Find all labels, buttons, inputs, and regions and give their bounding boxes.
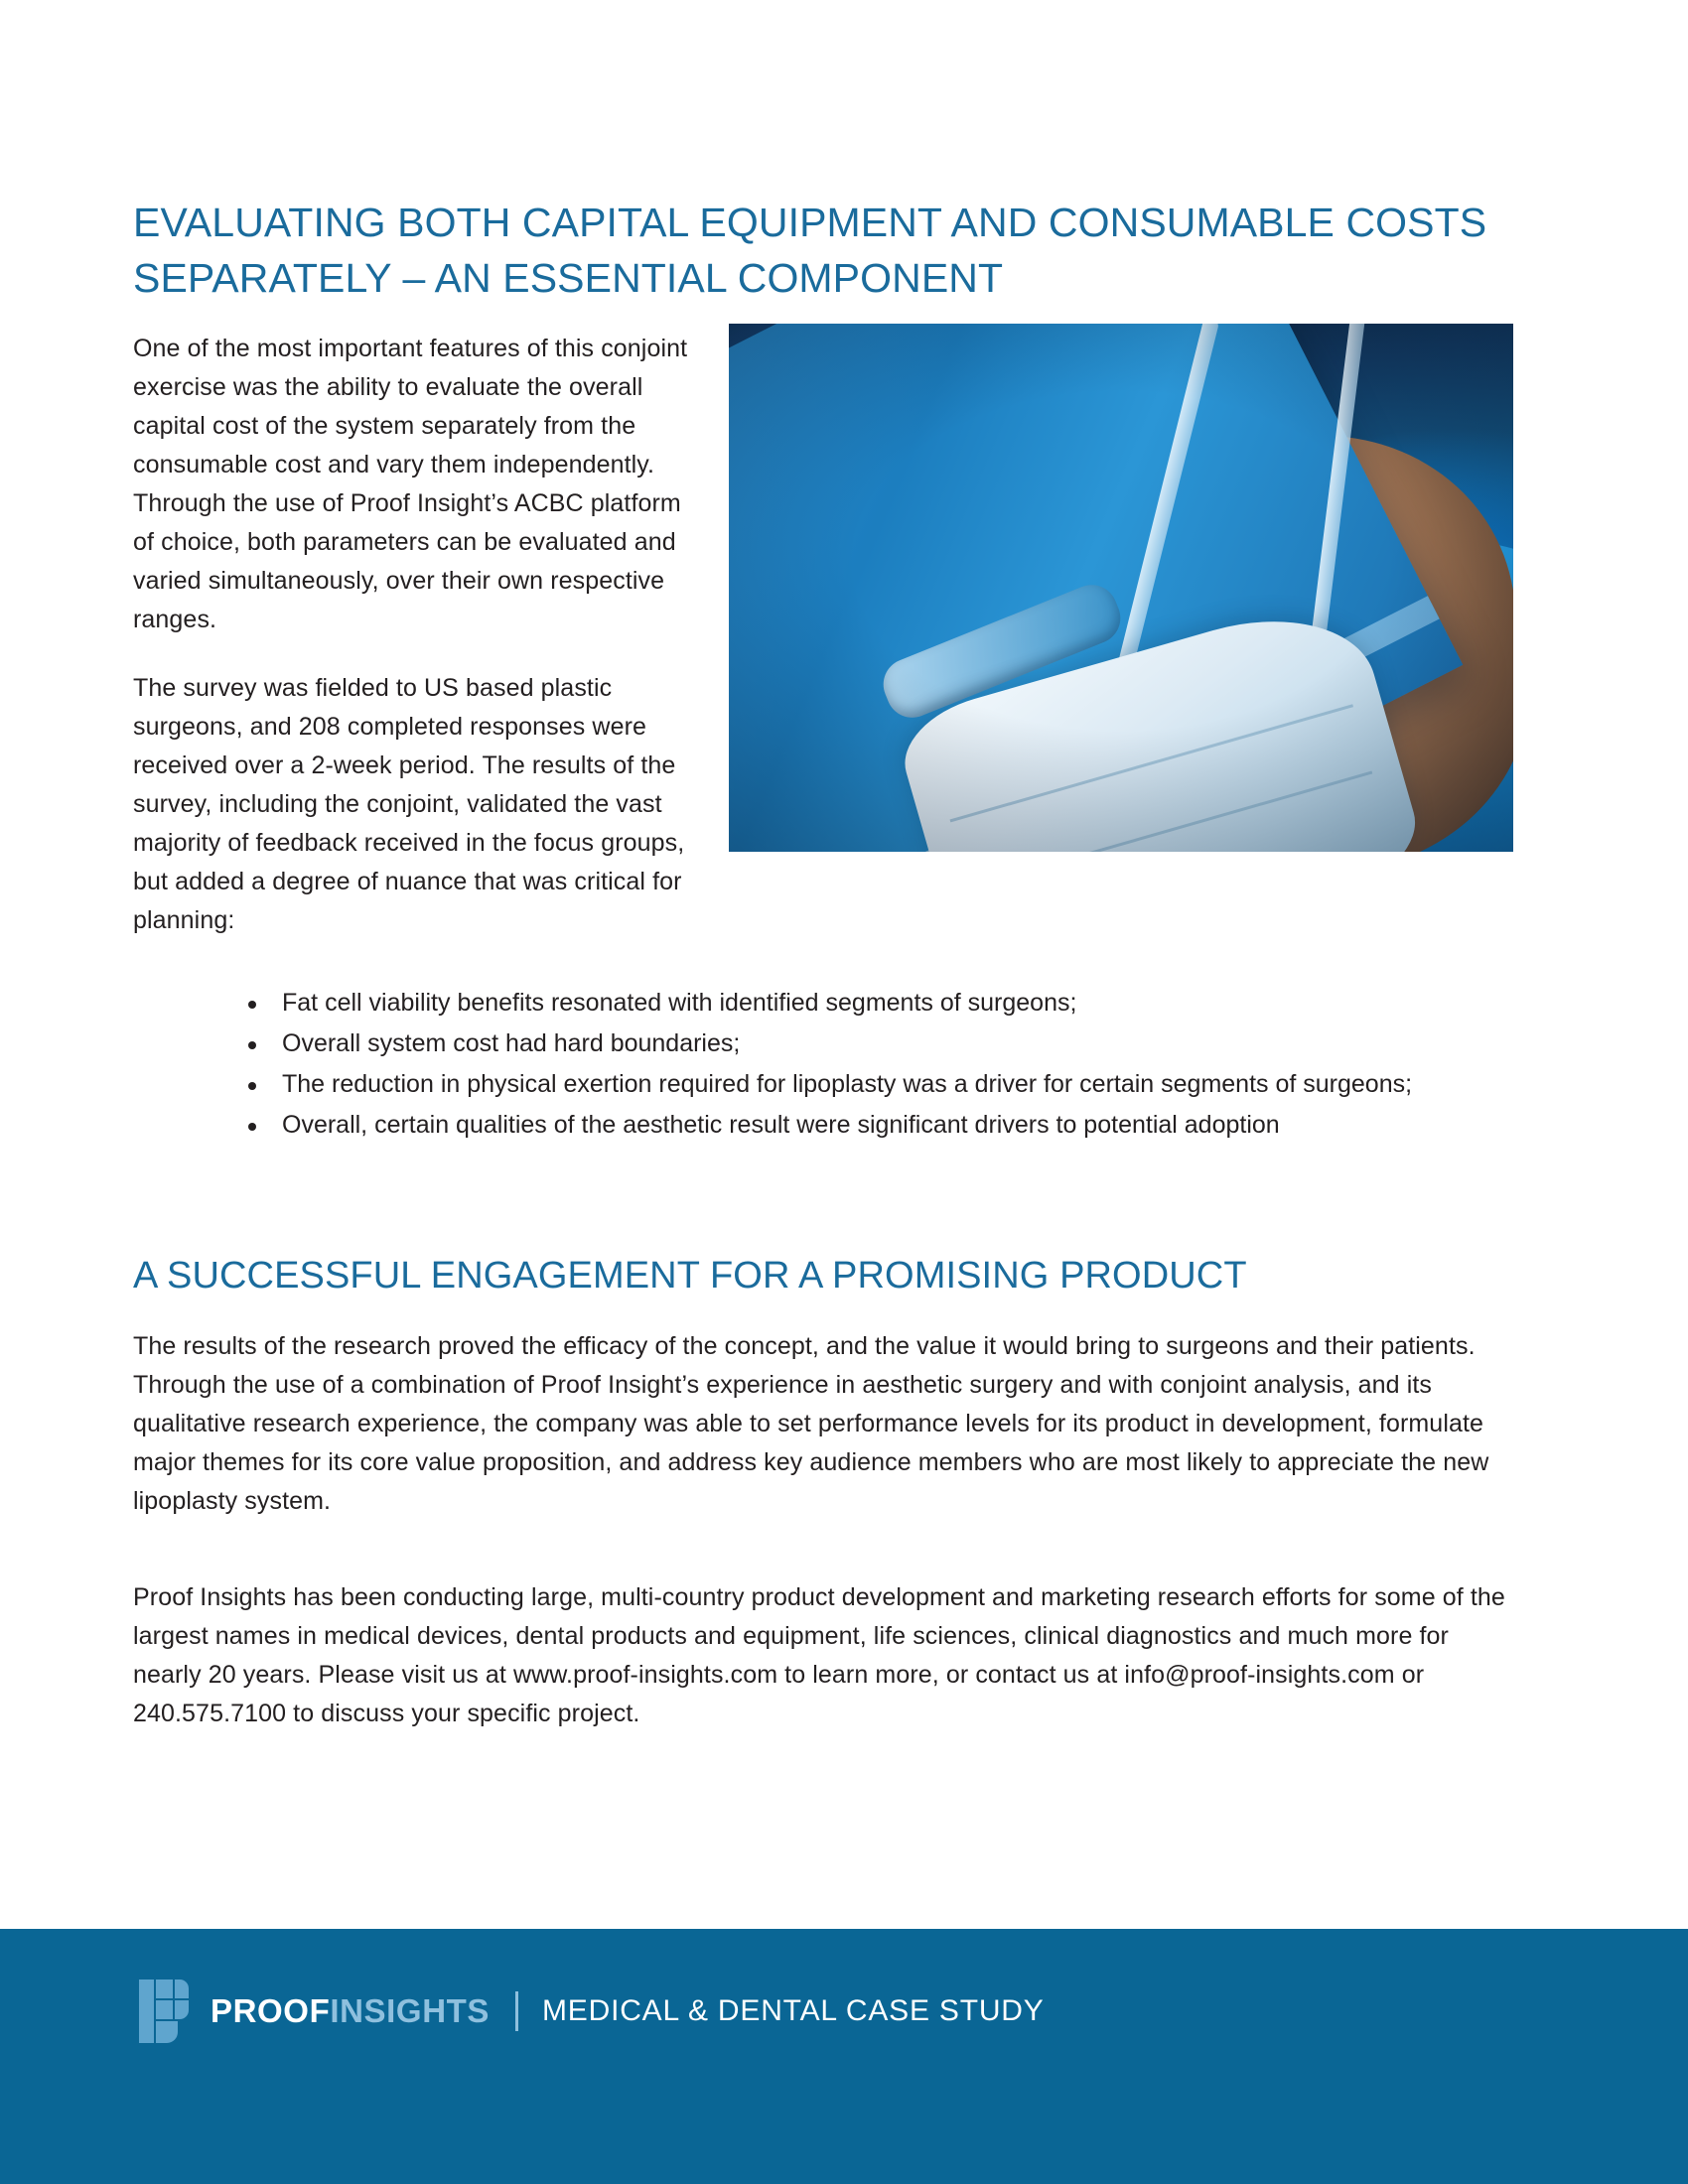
spacer-before-bullets [133,940,1513,984]
footer-tagline: MEDICAL & DENTAL CASE STUDY [542,1994,1045,2028]
footer-content: PROOFINSIGHTS MEDICAL & DENTAL CASE STUD… [139,1980,1045,2042]
results-paragraph: The results of the research proved the e… [133,1327,1513,1521]
findings-list: Fat cell viability benefits resonated wi… [133,984,1513,1145]
spacer-before-section-heading [133,1147,1513,1222]
footer-brand-insights: INSIGHTS [330,1992,490,2029]
document-page: EVALUATING BOTH CAPITAL EQUIPMENT AND CO… [0,0,1688,2184]
section-heading: A SUCCESSFUL ENGAGEMENT FOR A PROMISING … [133,1222,1513,1299]
list-item: The reduction in physical exertion requi… [246,1065,1434,1104]
photo-vignette-layer [729,324,1513,852]
page-title: EVALUATING BOTH CAPITAL EQUIPMENT AND CO… [133,0,1493,306]
list-item: Fat cell viability benefits resonated wi… [246,984,1434,1023]
footer-divider [515,1991,518,2031]
spacer-after-section-heading [133,1299,1513,1327]
surgeon-photo [729,324,1513,852]
page-footer: PROOFINSIGHTS MEDICAL & DENTAL CASE STUD… [0,1929,1688,2184]
proof-insights-logo-icon [139,1979,189,2043]
list-item: Overall system cost had hard boundaries; [246,1024,1434,1063]
document-content: EVALUATING BOTH CAPITAL EQUIPMENT AND CO… [133,0,1513,1763]
company-contact-paragraph: Proof Insights has been conducting large… [133,1578,1513,1733]
footer-brand-name: PROOFINSIGHTS [211,1992,490,2030]
list-item: Overall, certain qualities of the aesthe… [246,1106,1434,1145]
spacer-between-paragraphs [133,1551,1513,1578]
footer-brand-proof: PROOF [211,1992,330,2029]
